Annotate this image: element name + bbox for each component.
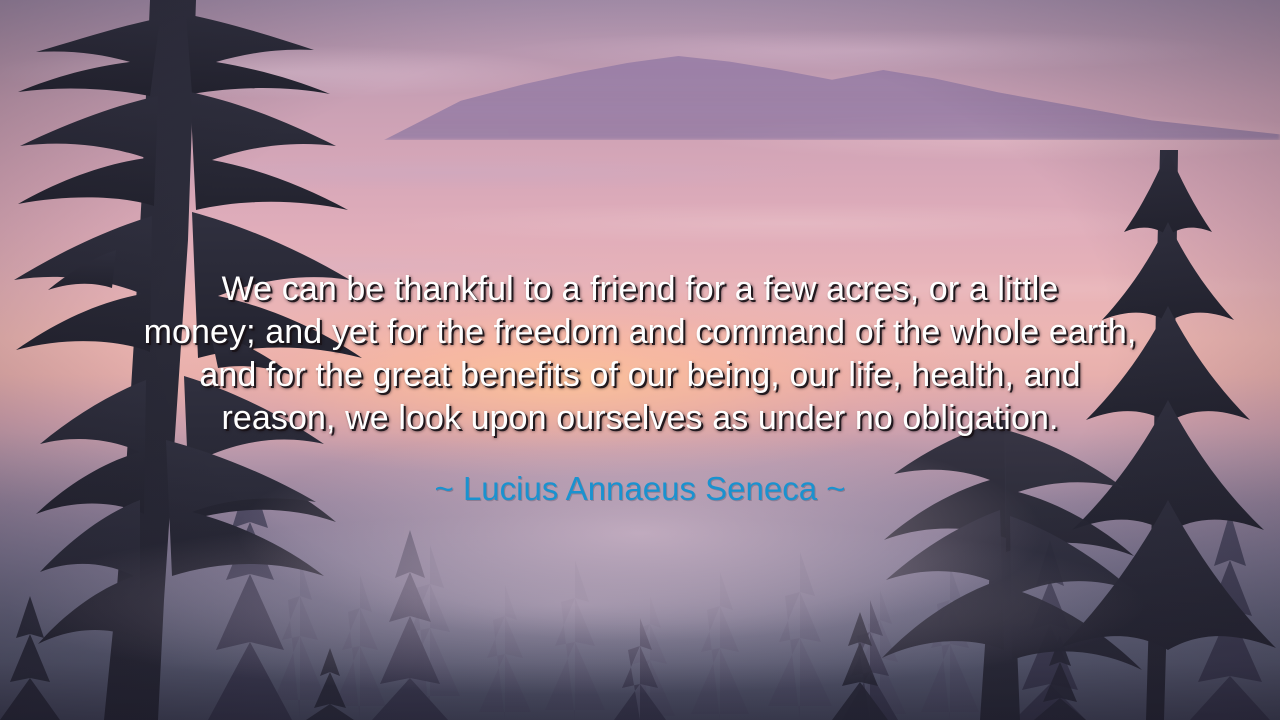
- quote-wallpaper: We can be thankful to a friend for a few…: [0, 0, 1280, 720]
- quote-line-3: and for the great benefits of our being,…: [0, 354, 1280, 397]
- quote-line-2: money; and yet for the freedom and comma…: [0, 311, 1280, 354]
- quote-attribution: ~ Lucius Annaeus Seneca ~: [0, 470, 1280, 508]
- quote-line-4: reason, we look upon ourselves as under …: [0, 397, 1280, 440]
- quote-text-block: We can be thankful to a friend for a few…: [0, 268, 1280, 440]
- quote-line-1: We can be thankful to a friend for a few…: [0, 268, 1280, 311]
